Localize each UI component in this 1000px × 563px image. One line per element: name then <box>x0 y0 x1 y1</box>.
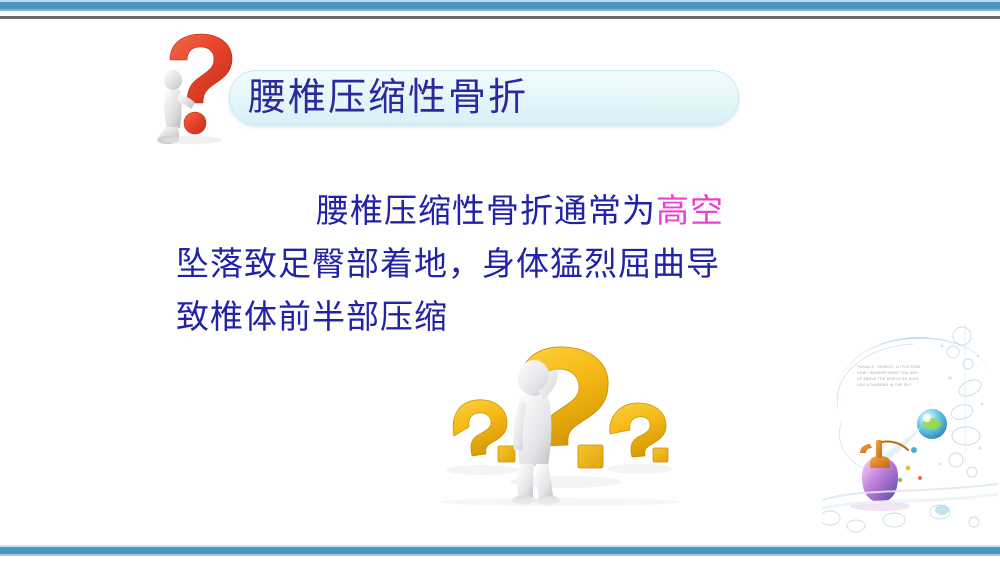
page-title: 腰椎压缩性骨折 <box>248 72 728 124</box>
body-line-1-text: 腰椎压缩性骨折通常为 <box>176 194 656 230</box>
body-highlight-gaokong: 高空 <box>656 194 724 230</box>
yellow-question-marks-artwork <box>424 338 696 506</box>
bottom-pale-strip <box>0 556 1000 563</box>
slide-root: 腰椎压缩性骨折 <box>0 0 1000 563</box>
top-gray-rule <box>0 16 1000 19</box>
red-question-mark-icon <box>146 32 238 144</box>
bottom-white-gap <box>0 538 1000 545</box>
decoration-caption: TWINKLE, TWINKLE, LITTLE STAR HOW I WOND… <box>857 364 941 388</box>
body-line-1: 腰椎压缩性骨折通常为高空 <box>176 186 796 239</box>
body-paragraph: 腰椎压缩性骨折通常为高空 坠落致足臀部着地，身体猛烈屈曲导 致椎体前半部压缩 <box>176 186 796 345</box>
top-blue-band <box>0 2 1000 9</box>
body-line-2: 坠落致足臀部着地，身体猛烈屈曲导 <box>176 239 796 292</box>
bottom-blue-band <box>0 547 1000 554</box>
decorative-artwork <box>822 312 998 534</box>
